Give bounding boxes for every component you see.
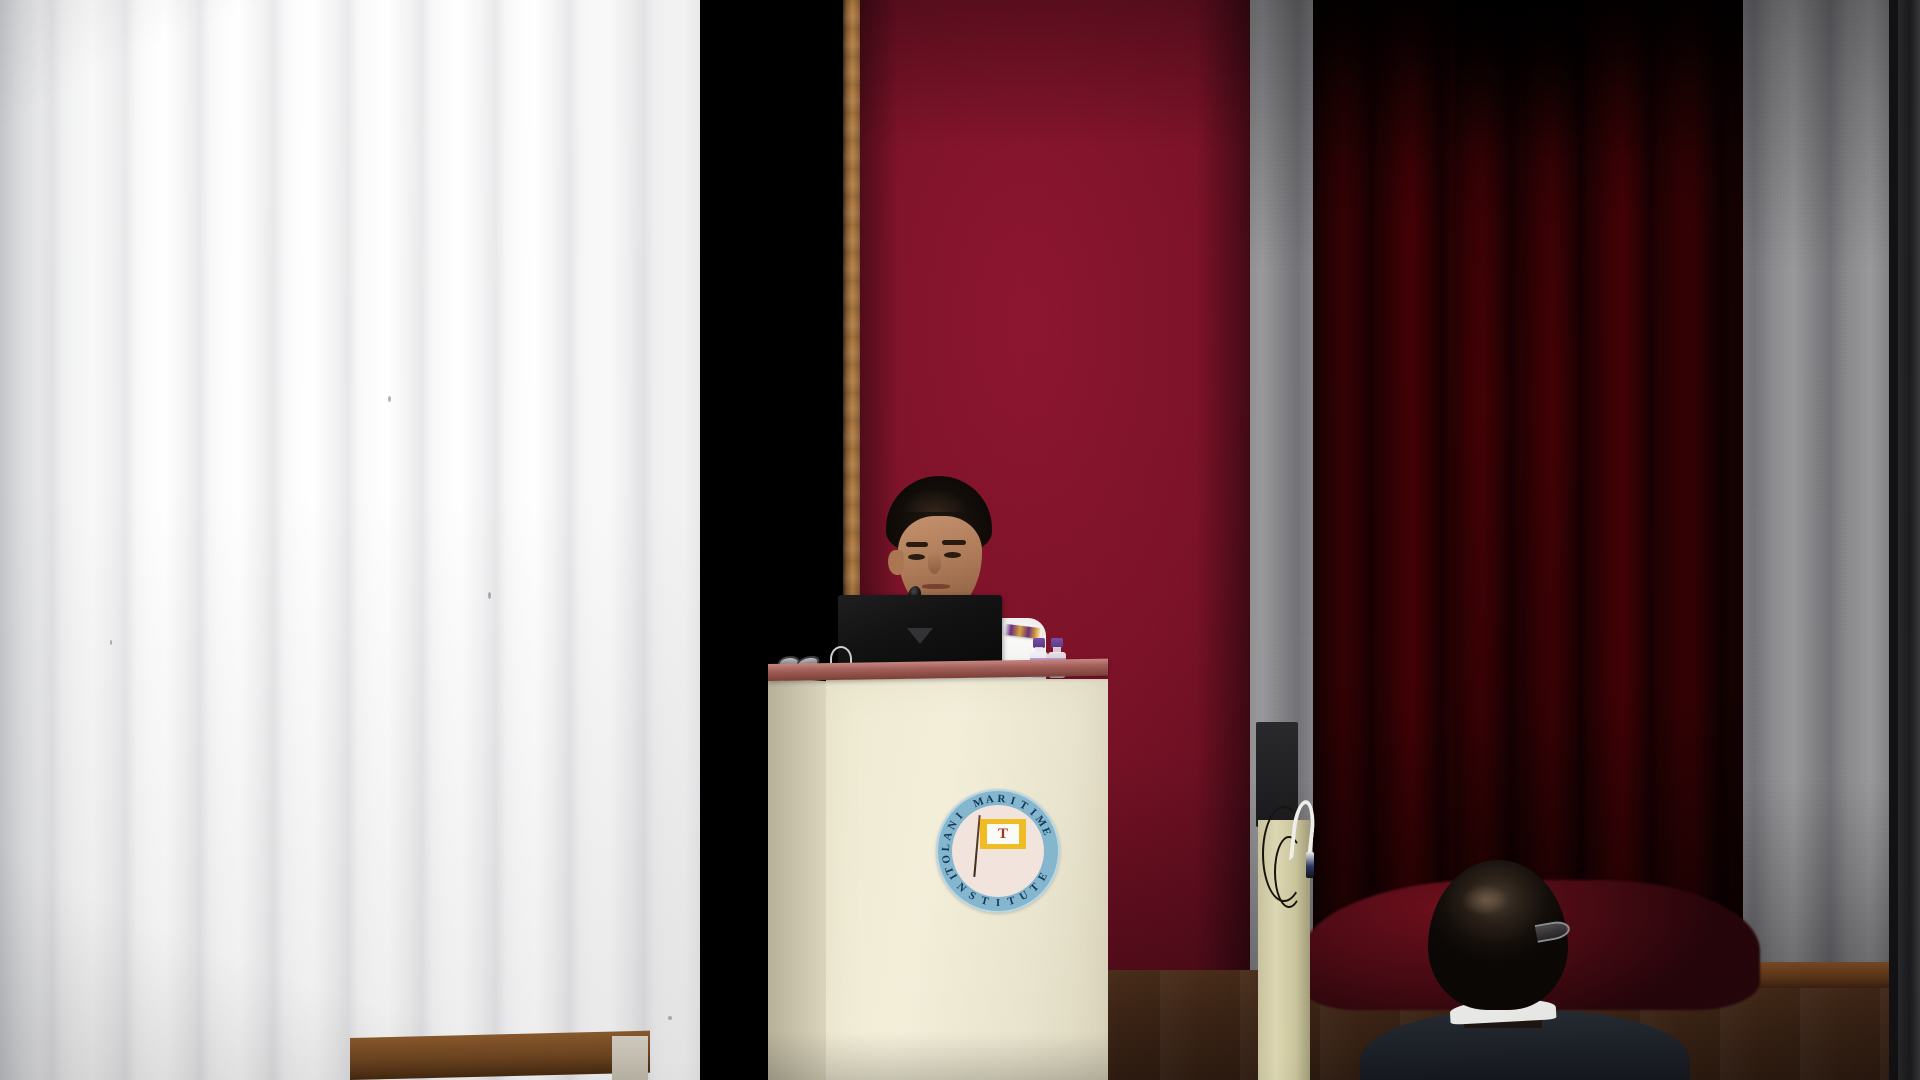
emblem-letter: L bbox=[940, 844, 952, 852]
speaker-ear bbox=[888, 550, 904, 575]
window-frame-inner-edge bbox=[1889, 0, 1898, 1080]
emblem-letter: I bbox=[1009, 795, 1017, 808]
emblem-letter: E bbox=[1036, 871, 1050, 883]
auditorium-scene: TOLANIMARITIMEINSTITUTE T A cadet in whi… bbox=[0, 0, 1920, 1080]
lectern-bottom-shadow bbox=[768, 1032, 1108, 1080]
lectern[interactable]: TOLANIMARITIMEINSTITUTE T bbox=[768, 664, 1108, 1080]
emblem-letter: T bbox=[979, 894, 989, 907]
audience-bald-spot bbox=[1452, 878, 1518, 922]
wooden-baseboard bbox=[350, 1031, 650, 1080]
emblem-letter: N bbox=[954, 881, 968, 895]
laptop-lid[interactable] bbox=[838, 595, 1002, 668]
emblem-letter: U bbox=[1018, 889, 1031, 903]
emblem-letter: S bbox=[966, 889, 977, 902]
speaker-brow-left bbox=[906, 542, 928, 547]
blinds-speck bbox=[388, 396, 391, 402]
emblem-letter: E bbox=[1039, 826, 1053, 837]
emblem-flag-letter: T bbox=[987, 824, 1019, 844]
audience-member bbox=[1360, 860, 1690, 1080]
baseboard-end-cap bbox=[612, 1036, 648, 1080]
emblem-flag-icon: T bbox=[980, 819, 1026, 849]
speaker-eye-left bbox=[908, 554, 925, 560]
emblem-arc-text: TOLANIMARITIMEINSTITUTE bbox=[936, 789, 1060, 913]
emblem-letter: T bbox=[1017, 799, 1029, 813]
speaker-nose bbox=[928, 552, 941, 574]
emblem-letter: I bbox=[996, 897, 1000, 909]
speaker-eye-right bbox=[944, 552, 961, 558]
emblem-letter: A bbox=[985, 793, 995, 806]
speaker-mouth bbox=[922, 584, 950, 589]
emblem-letter: N bbox=[946, 819, 960, 832]
cable-plug-icon bbox=[1306, 852, 1314, 878]
emblem-flag-field: T bbox=[987, 824, 1019, 844]
emblem-letter: I bbox=[954, 810, 966, 821]
emblem-letter: A bbox=[941, 831, 955, 842]
emblem-letter: T bbox=[1006, 894, 1016, 907]
speaker-brow-right bbox=[942, 540, 966, 545]
emblem-letter: T bbox=[1028, 881, 1042, 895]
blinds-speck bbox=[110, 640, 112, 645]
institute-emblem: TOLANIMARITIMEINSTITUTE T bbox=[936, 789, 1060, 913]
curtain-pleats bbox=[1455, 0, 1585, 1010]
lectern-front-panel: TOLANIMARITIMEINSTITUTE T bbox=[826, 679, 1108, 1080]
emblem-letter: O bbox=[940, 854, 953, 864]
window-frame-edge bbox=[1898, 0, 1920, 1080]
lectern-side-panel bbox=[768, 677, 830, 1080]
blinds-speck bbox=[668, 1016, 672, 1020]
emblem-letter: R bbox=[997, 793, 1006, 805]
laptop-chevron-logo-icon bbox=[907, 628, 933, 644]
blinds-speck bbox=[488, 592, 491, 599]
white-vertical-blinds bbox=[0, 0, 700, 1080]
blinds-shading bbox=[0, 0, 700, 1080]
emblem-letter: M bbox=[971, 795, 985, 810]
